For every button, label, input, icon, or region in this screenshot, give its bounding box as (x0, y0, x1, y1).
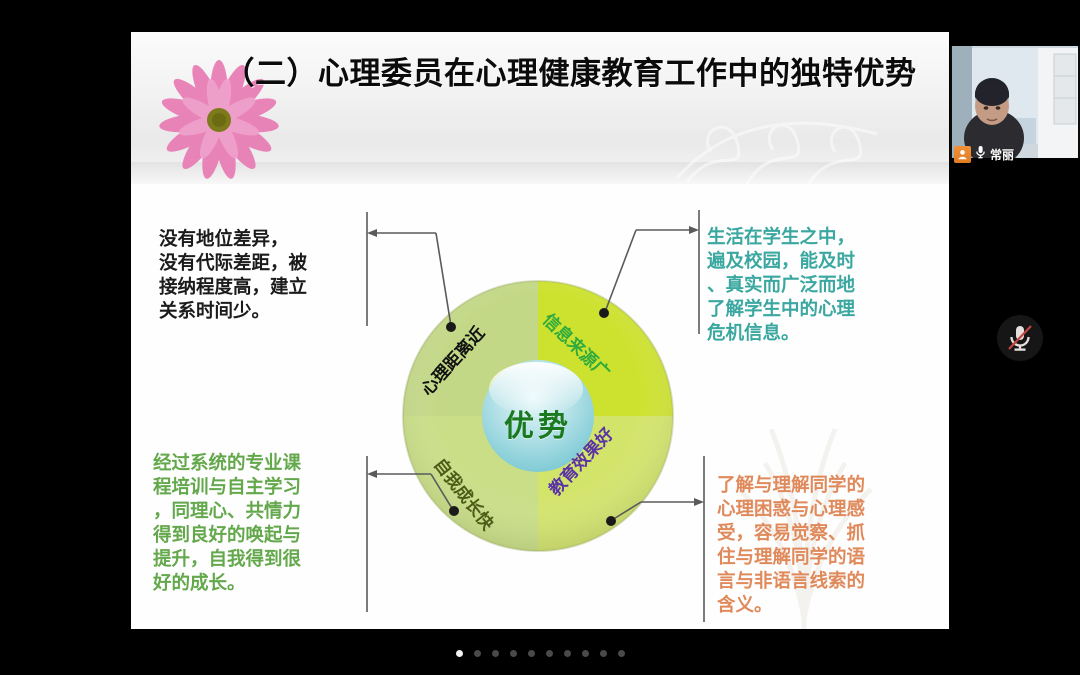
page-dot-8[interactable] (582, 650, 589, 657)
microphone-muted-icon[interactable] (997, 315, 1043, 361)
person-avatar-icon (954, 146, 971, 163)
microphone-icon (975, 145, 986, 164)
page-dot-1[interactable] (456, 650, 463, 657)
page-title: （二）心理委员在心理健康教育工作中的独特优势 (191, 54, 949, 94)
page-dot-7[interactable] (564, 650, 571, 657)
participant-name-badge: 常丽 (954, 145, 1014, 164)
shared-slide[interactable]: （二）心理委员在心理健康教育工作中的独特优势 (131, 32, 949, 629)
page-dot-3[interactable] (492, 650, 499, 657)
swirl-ornament-icon (677, 82, 897, 184)
callout-bottom-left: 经过系统的专业课 程培训与自主学习 ，同理心、共情力 得到良好的唤起与 提升，自… (153, 452, 375, 596)
page-dot-6[interactable] (546, 650, 553, 657)
page-dot-9[interactable] (600, 650, 607, 657)
page-dot-10[interactable] (618, 650, 625, 657)
page-dot-2[interactable] (474, 650, 481, 657)
participant-name: 常丽 (990, 146, 1014, 163)
page-dot-4[interactable] (510, 650, 517, 657)
slide-title-band: （二）心理委员在心理健康教育工作中的独特优势 (131, 32, 949, 184)
callout-top-right: 生活在学生之中， 遍及校园，能及时 、真实而广泛而地 了解学生中的心理 危机信息… (707, 226, 919, 346)
slide-body: 没有地位差异， 没有代际差距，被 接纳程度高，建立 关系时间少。 生活在学生之中… (131, 184, 949, 629)
page-dot-5[interactable] (528, 650, 535, 657)
pagination-dots[interactable] (0, 650, 1080, 657)
participant-video-tile[interactable]: 常丽 (950, 32, 1080, 170)
callout-bottom-right: 了解与理解同学的 心理困惑与心理感 受，容易觉察、抓 住与理解同学的语 言与非语… (717, 474, 929, 618)
callout-top-left: 没有地位差异， 没有代际差距，被 接纳程度高，建立 关系时间少。 (159, 228, 377, 324)
screen-root: （二）心理委员在心理健康教育工作中的独特优势 (0, 0, 1080, 675)
